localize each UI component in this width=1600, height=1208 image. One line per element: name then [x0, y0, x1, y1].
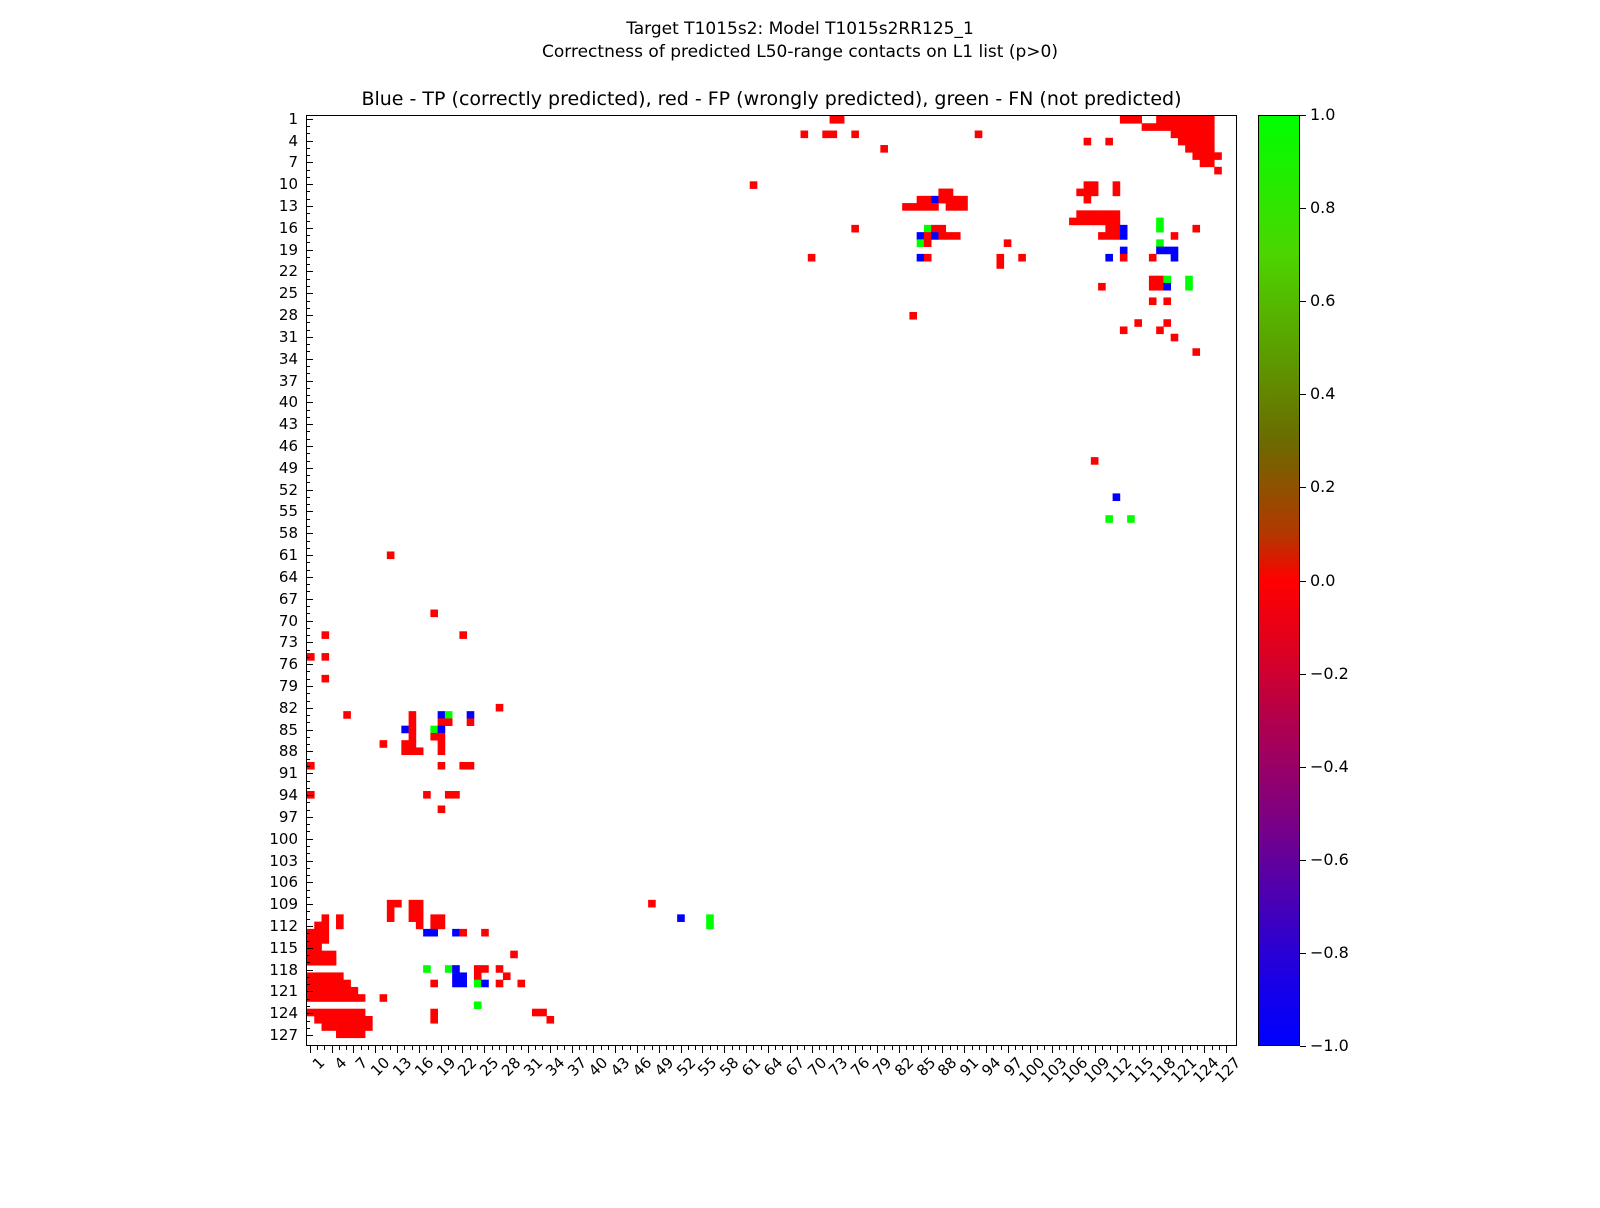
contact-cell [438, 762, 446, 770]
y-tick-label: 103 [269, 854, 298, 869]
contact-cell [336, 972, 344, 980]
contact-cell [902, 203, 910, 211]
x-minor-tick [1059, 1046, 1060, 1050]
y-minor-tick [306, 984, 310, 985]
contact-cell [416, 907, 424, 915]
contact-cell [336, 994, 344, 1002]
contact-cell [336, 1009, 344, 1017]
contact-cell [438, 733, 446, 741]
x-tick-mark [855, 1046, 856, 1053]
contact-cell [1105, 225, 1113, 233]
x-minor-tick [382, 1046, 383, 1050]
contact-cell [322, 675, 330, 683]
contact-cell [924, 225, 932, 233]
y-minor-tick [306, 344, 310, 345]
y-tick-label: 100 [269, 832, 298, 847]
contact-cell [1149, 297, 1157, 305]
x-minor-tick [1190, 1046, 1191, 1050]
contact-cell [1084, 210, 1092, 218]
contact-cell [917, 239, 925, 247]
contact-cell [387, 900, 395, 908]
contact-cell [445, 711, 453, 719]
y-tick-mark [306, 206, 313, 207]
x-minor-tick [426, 1046, 427, 1050]
y-minor-tick [306, 148, 310, 149]
contact-cell [322, 958, 330, 966]
contact-cell [1178, 131, 1186, 139]
contact-cell [430, 914, 438, 922]
x-tick-mark [812, 1046, 813, 1053]
contact-cell [1091, 210, 1099, 218]
y-tick-label: 112 [269, 919, 298, 934]
y-tick-mark [306, 730, 313, 731]
colorbar-tick-label: −0.6 [1310, 852, 1349, 868]
y-tick-mark [306, 926, 313, 927]
y-tick-label: 91 [279, 766, 298, 781]
contact-cell [924, 196, 932, 204]
y-tick-mark [306, 271, 313, 272]
contact-cell [314, 922, 322, 930]
x-tick-mark [921, 1046, 922, 1053]
y-minor-tick [306, 868, 310, 869]
contact-cell [445, 718, 453, 726]
contact-cell [467, 762, 475, 770]
x-minor-tick [979, 1046, 980, 1050]
contact-cell [459, 980, 467, 988]
x-tick-mark [1008, 1046, 1009, 1053]
contact-cell [1091, 189, 1099, 197]
contact-cell [1207, 160, 1215, 168]
contact-cell [946, 189, 954, 197]
contact-cell [329, 972, 337, 980]
contact-cell [1127, 116, 1135, 124]
contact-cell [1156, 218, 1164, 226]
x-tick-mark [506, 1046, 507, 1053]
contact-cell [1185, 131, 1193, 139]
contact-map-plot[interactable] [306, 115, 1237, 1046]
contact-cell [459, 929, 467, 937]
contact-cell [1163, 283, 1171, 291]
x-minor-tick [1110, 1046, 1111, 1050]
contact-cell [1192, 116, 1200, 124]
contact-cell [1200, 123, 1208, 131]
x-tick-mark [593, 1046, 594, 1053]
contact-cell [358, 1030, 366, 1038]
contact-cell [1156, 276, 1164, 284]
contact-cell [917, 232, 925, 240]
colorbar-tick-label: −0.2 [1310, 666, 1349, 682]
y-tick-mark [306, 468, 313, 469]
y-minor-tick [306, 897, 310, 898]
colorbar-tick-mark [1300, 581, 1306, 582]
x-tick-mark [986, 1046, 987, 1053]
contact-cell [1098, 210, 1106, 218]
colorbar-tick-mark [1300, 394, 1306, 395]
contact-cell [438, 922, 446, 930]
contact-cell [343, 980, 351, 988]
x-minor-tick [644, 1046, 645, 1050]
contact-cell [401, 726, 409, 734]
x-minor-tick [673, 1046, 674, 1050]
contact-cell [1149, 123, 1157, 131]
contact-cell [452, 980, 460, 988]
contact-cell [336, 1023, 344, 1031]
contact-cell [1192, 225, 1200, 233]
suptitle-line-2: Correctness of predicted L50-range conta… [542, 42, 1058, 62]
x-minor-tick [972, 1046, 973, 1050]
x-minor-tick [368, 1046, 369, 1050]
x-minor-tick [1168, 1046, 1169, 1050]
y-tick-mark [306, 162, 313, 163]
suptitle-line-1: Target T1015s2: Model T1015s2RR125_1 [626, 19, 974, 39]
y-minor-tick [306, 933, 310, 934]
contact-cell [322, 653, 330, 661]
contact-cell [1171, 254, 1179, 262]
x-minor-tick [433, 1046, 434, 1050]
y-minor-tick [306, 919, 310, 920]
x-minor-tick [826, 1046, 827, 1050]
contact-cell [1185, 138, 1193, 146]
x-minor-tick [717, 1046, 718, 1050]
y-tick-label: 82 [279, 701, 298, 716]
contact-cell [1134, 116, 1142, 124]
y-minor-tick [306, 351, 310, 352]
contact-cell [322, 936, 330, 944]
contact-cell [1069, 218, 1077, 226]
y-minor-tick [306, 875, 310, 876]
contact-cell [1142, 123, 1150, 131]
y-minor-tick [306, 330, 310, 331]
contact-cell [314, 936, 322, 944]
x-minor-tick [1044, 1046, 1045, 1050]
contact-cell [329, 1023, 337, 1031]
contact-cell [387, 551, 395, 559]
x-tick-mark [462, 1046, 463, 1053]
x-minor-tick [470, 1046, 471, 1050]
contact-cell [996, 261, 1004, 269]
contact-cell [343, 1023, 351, 1031]
contact-cell [452, 929, 460, 937]
contact-cell [677, 914, 685, 922]
x-minor-tick [797, 1046, 798, 1050]
x-minor-tick [913, 1046, 914, 1050]
contact-cell [1185, 123, 1193, 131]
contact-cell [430, 922, 438, 930]
y-tick-label: 1 [288, 112, 298, 127]
x-tick-mark [1052, 1046, 1053, 1053]
contact-cell [365, 1016, 373, 1024]
contact-cell [917, 196, 925, 204]
contact-cell [496, 704, 504, 712]
y-minor-tick [306, 846, 310, 847]
contact-cell [438, 740, 446, 748]
contact-cell [314, 958, 322, 966]
contact-cell [336, 1030, 344, 1038]
y-minor-tick [306, 213, 310, 214]
contact-cell [416, 914, 424, 922]
contact-cell [946, 196, 954, 204]
y-tick-mark [306, 948, 313, 949]
contact-cell [1171, 131, 1179, 139]
contact-cell [1098, 218, 1106, 226]
y-minor-tick [306, 504, 310, 505]
y-minor-tick [306, 941, 310, 942]
y-tick-label: 34 [279, 352, 298, 367]
contact-cell [1120, 225, 1128, 233]
contact-cell [459, 972, 467, 980]
x-minor-tick [390, 1046, 391, 1050]
y-tick-label: 64 [279, 570, 298, 585]
x-minor-tick [841, 1046, 842, 1050]
contact-cell [438, 726, 446, 734]
contact-cell [481, 965, 489, 973]
x-minor-tick [1037, 1046, 1038, 1050]
contact-cell [358, 994, 366, 1002]
contact-cell [1200, 116, 1208, 124]
contact-cell [960, 196, 968, 204]
contact-cell [445, 965, 453, 973]
contact-cell [1185, 283, 1193, 291]
y-tick-label: 4 [288, 134, 298, 149]
y-minor-tick [306, 679, 310, 680]
y-minor-tick [306, 548, 310, 549]
x-minor-tick [412, 1046, 413, 1050]
y-minor-tick [306, 170, 310, 171]
contact-cell [1091, 457, 1099, 465]
contact-cell [322, 1016, 330, 1024]
contact-cell [1076, 218, 1084, 226]
contact-cell [750, 181, 758, 189]
contact-cell [1207, 131, 1215, 139]
y-minor-tick [306, 235, 310, 236]
contact-cell [946, 203, 954, 211]
y-tick-label: 79 [279, 679, 298, 694]
contact-cell [1105, 515, 1113, 523]
contact-cell [1200, 145, 1208, 153]
x-minor-tick [586, 1046, 587, 1050]
contact-cell [314, 972, 322, 980]
contact-cell [1163, 276, 1171, 284]
contact-cell [996, 254, 1004, 262]
y-minor-tick [306, 497, 310, 498]
x-minor-tick [404, 1046, 405, 1050]
y-minor-tick [306, 759, 310, 760]
x-tick-mark [1117, 1046, 1118, 1053]
contact-cell [909, 312, 917, 320]
contact-cell [837, 116, 845, 124]
y-tick-label: 25 [279, 286, 298, 301]
contact-cell [314, 929, 322, 937]
y-minor-tick [306, 177, 310, 178]
x-minor-tick [688, 1046, 689, 1050]
contact-cell [1004, 239, 1012, 247]
y-tick-label: 61 [279, 548, 298, 563]
y-minor-tick [306, 264, 310, 265]
contact-cell [532, 1009, 540, 1017]
x-minor-tick [848, 1046, 849, 1050]
y-minor-tick [306, 526, 310, 527]
contact-cell [445, 791, 453, 799]
contact-cell [474, 965, 482, 973]
y-minor-tick [306, 591, 310, 592]
y-minor-tick [306, 788, 310, 789]
colorbar-tick-label: 0.0 [1310, 573, 1335, 589]
y-tick-label: 19 [279, 243, 298, 258]
contact-cell [474, 980, 482, 988]
y-minor-tick [306, 635, 310, 636]
colorbar-tick-mark [1300, 115, 1306, 116]
contact-cell [517, 980, 525, 988]
contact-cell [1091, 181, 1099, 189]
contact-cell [1185, 116, 1193, 124]
y-tick-label: 52 [279, 483, 298, 498]
x-minor-tick [513, 1046, 514, 1050]
x-minor-tick [630, 1046, 631, 1050]
y-tick-label: 121 [269, 984, 298, 999]
y-tick-mark [306, 795, 313, 796]
contact-cell [438, 747, 446, 755]
contact-cell [343, 711, 351, 719]
contact-cell [409, 711, 417, 719]
y-tick-mark [306, 555, 313, 556]
y-minor-tick [306, 373, 310, 374]
y-tick-mark [306, 882, 313, 883]
y-tick-label: 55 [279, 504, 298, 519]
y-tick-mark [306, 861, 313, 862]
contact-cell [358, 1023, 366, 1031]
contact-cell [917, 254, 925, 262]
x-minor-tick [870, 1046, 871, 1050]
y-tick-mark [306, 970, 313, 971]
y-tick-label: 40 [279, 395, 298, 410]
contact-cell [416, 900, 424, 908]
contact-cell [336, 1016, 344, 1024]
x-minor-tick [753, 1046, 754, 1050]
contact-cell [1156, 247, 1164, 255]
contact-cell [394, 900, 402, 908]
y-minor-tick [306, 461, 310, 462]
y-tick-mark [306, 686, 313, 687]
contact-cell [1105, 254, 1113, 262]
contact-cell [351, 1016, 359, 1024]
contact-cell [1156, 283, 1164, 291]
contact-cell [423, 965, 431, 973]
y-tick-label: 109 [269, 897, 298, 912]
y-tick-mark [306, 817, 313, 818]
x-minor-tick [1066, 1046, 1067, 1050]
contact-map-cells [307, 116, 1236, 1045]
x-minor-tick [477, 1046, 478, 1050]
contact-cell [351, 1009, 359, 1017]
x-minor-tick [557, 1046, 558, 1050]
contact-cell [539, 1009, 547, 1017]
y-tick-label: 43 [279, 417, 298, 432]
contact-cell [931, 203, 939, 211]
y-tick-label: 118 [269, 963, 298, 978]
colorbar-tick-mark [1300, 208, 1306, 209]
y-tick-label: 49 [279, 461, 298, 476]
y-tick-label: 37 [279, 374, 298, 389]
y-tick-label: 16 [279, 221, 298, 236]
x-tick-mark [1139, 1046, 1140, 1053]
contact-cell [1200, 131, 1208, 139]
contact-cell [1192, 123, 1200, 131]
contact-cell [1156, 239, 1164, 247]
x-tick-mark [899, 1046, 900, 1053]
contact-cell [322, 922, 330, 930]
contact-cell [351, 1030, 359, 1038]
x-tick-mark [572, 1046, 573, 1053]
x-minor-tick [761, 1046, 762, 1050]
contact-cell [1105, 232, 1113, 240]
contact-cell [960, 203, 968, 211]
x-minor-tick [601, 1046, 602, 1050]
contact-cell [1149, 254, 1157, 262]
contact-cell [365, 1023, 373, 1031]
x-minor-tick [1015, 1046, 1016, 1050]
x-tick-mark [1204, 1046, 1205, 1053]
contact-cell [938, 225, 946, 233]
y-tick-label: 88 [279, 744, 298, 759]
x-minor-tick [499, 1046, 500, 1050]
y-tick-mark [306, 337, 313, 338]
x-tick-mark [353, 1046, 354, 1053]
contact-cell [322, 929, 330, 937]
contact-cell [1084, 181, 1092, 189]
y-tick-mark [306, 250, 313, 251]
contact-cell [924, 239, 932, 247]
x-minor-tick [1081, 1046, 1082, 1050]
contact-cell [459, 631, 467, 639]
contact-cell [1113, 493, 1121, 501]
y-minor-tick [306, 475, 310, 476]
colorbar-tick-label: 0.8 [1310, 200, 1335, 216]
y-tick-mark [306, 991, 313, 992]
x-minor-tick [884, 1046, 885, 1050]
colorbar-tick-mark [1300, 953, 1306, 954]
contact-cell [409, 718, 417, 726]
y-tick-label: 85 [279, 723, 298, 738]
contact-cell [474, 972, 482, 980]
contact-cell [1214, 152, 1222, 160]
contact-cell [322, 914, 330, 922]
contact-cell [336, 922, 344, 930]
contact-cell [1091, 218, 1099, 226]
contact-cell [648, 900, 656, 908]
contact-cell [953, 196, 961, 204]
contact-cell [409, 747, 417, 755]
x-minor-tick [1197, 1046, 1198, 1050]
figure-suptitle: Target T1015s2: Model T1015s2RR125_1Corr… [0, 18, 1600, 64]
contact-cell [1207, 138, 1215, 146]
x-tick-mark [790, 1046, 791, 1053]
x-tick-mark [877, 1046, 878, 1053]
x-minor-tick [993, 1046, 994, 1050]
x-minor-tick [535, 1046, 536, 1050]
y-minor-tick [306, 126, 310, 127]
contact-cell [1113, 210, 1121, 218]
contact-cell [706, 914, 714, 922]
contact-cell [481, 980, 489, 988]
contact-cell [1105, 218, 1113, 226]
y-minor-tick [306, 1028, 310, 1029]
contact-cell [503, 972, 511, 980]
contact-cell [322, 972, 330, 980]
contact-cell [430, 733, 438, 741]
contact-cell [336, 987, 344, 995]
contact-cell [438, 914, 446, 922]
y-minor-tick [306, 606, 310, 607]
